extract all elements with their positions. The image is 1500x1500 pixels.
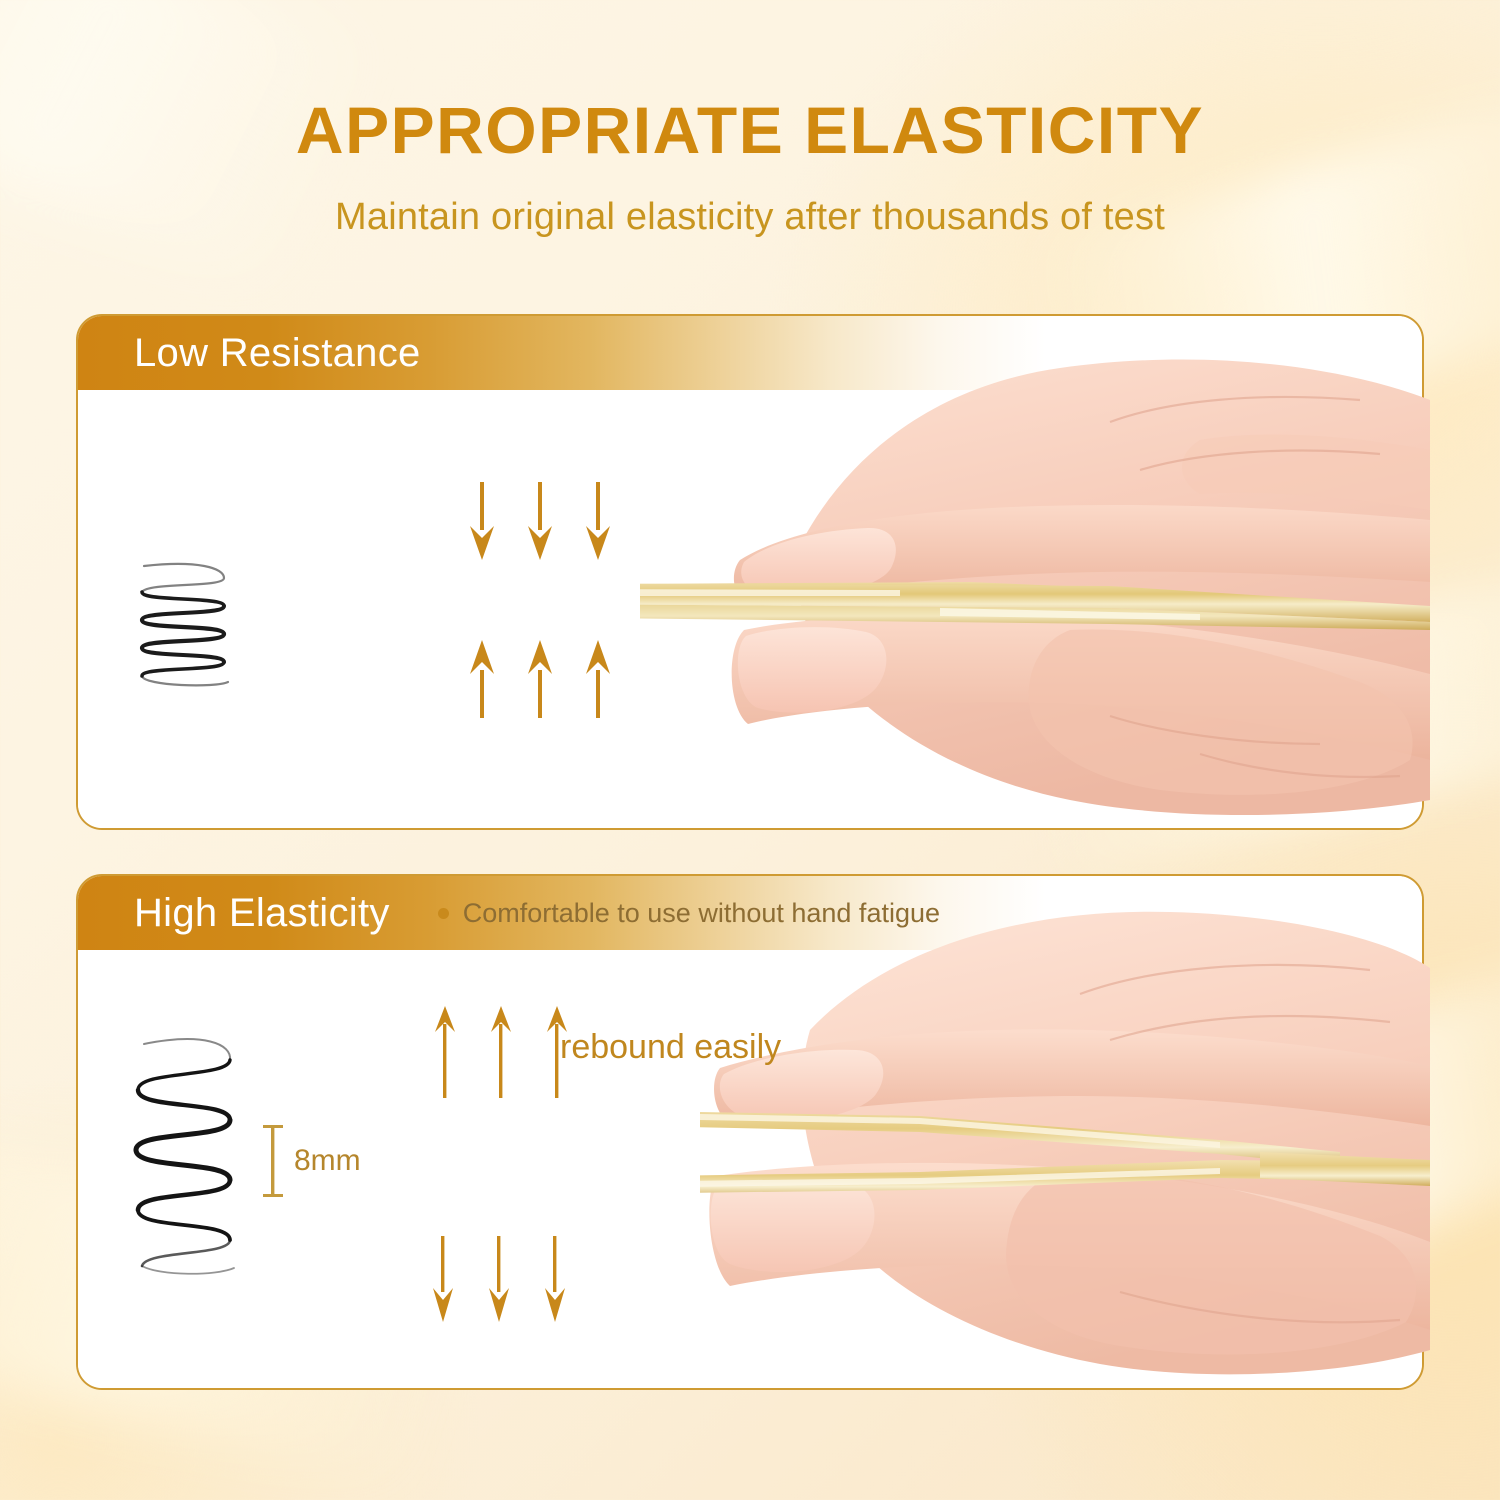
compressed-spring-icon <box>128 556 238 696</box>
arrow-up-icon <box>432 1006 458 1098</box>
dimension-line-icon <box>262 1124 284 1198</box>
arrow-down-icon <box>430 1236 456 1322</box>
dimension-8mm: 8mm <box>262 1124 361 1198</box>
arrow-down-icon <box>486 1236 512 1322</box>
arrows-up-group-high <box>432 1006 570 1098</box>
arrows-down-group-low <box>468 482 612 560</box>
arrow-up-icon <box>584 640 612 718</box>
arrow-down-icon <box>468 482 496 560</box>
arrow-up-icon <box>526 640 554 718</box>
card-title-high-elasticity: High Elasticity <box>134 891 390 936</box>
extended-spring-icon <box>120 1030 240 1280</box>
photo-hand-open-tweezers <box>700 890 1430 1390</box>
arrow-down-icon <box>542 1236 568 1322</box>
rebound-label: rebound easily <box>560 1028 781 1067</box>
page-subtitle: Maintain original elasticity after thous… <box>0 196 1500 239</box>
arrow-down-icon <box>584 482 612 560</box>
arrow-up-icon <box>468 640 496 718</box>
dimension-label: 8mm <box>294 1144 361 1178</box>
arrow-up-icon <box>488 1006 514 1098</box>
photo-hand-closed-tweezers <box>640 330 1430 830</box>
card-title-low-resistance: Low Resistance <box>134 331 421 376</box>
arrow-down-icon <box>526 482 554 560</box>
bullet-dot-icon <box>438 908 449 919</box>
page-title: APPROPRIATE ELASTICITY <box>0 96 1500 165</box>
arrows-up-group-low <box>468 640 612 718</box>
arrows-down-group-high <box>430 1236 568 1322</box>
